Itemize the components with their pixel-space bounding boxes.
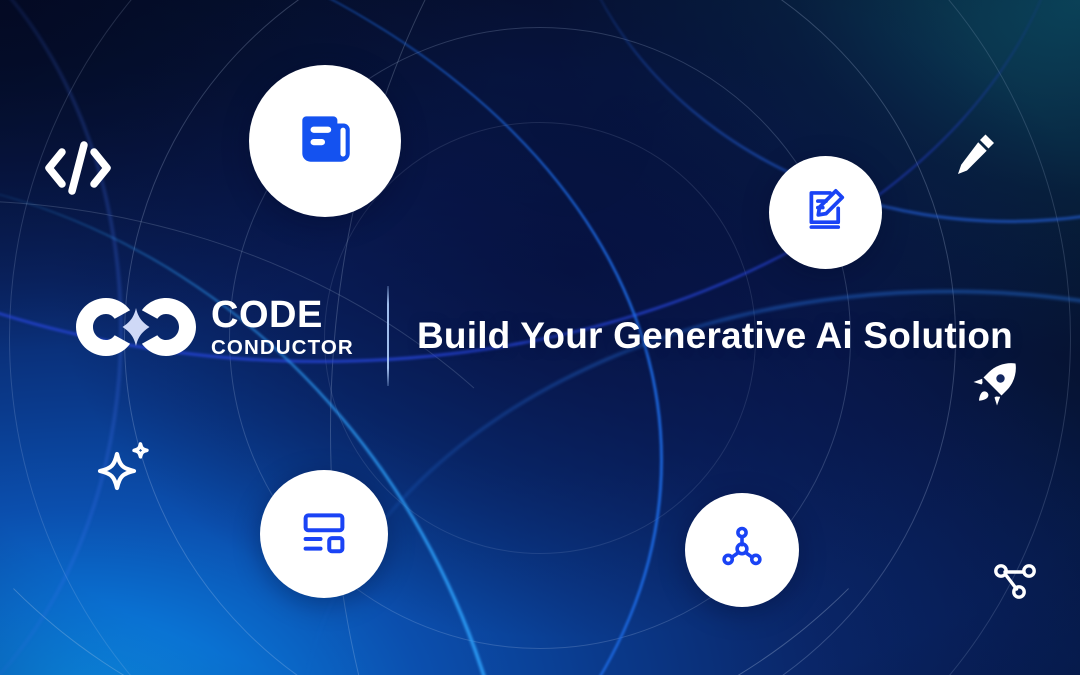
sparkle-star-icon [95,441,151,495]
feature-circle-edit[interactable] [769,156,882,269]
edit-document-icon [800,184,852,241]
layout-dashboard-icon [296,504,352,565]
feature-circle-network[interactable] [685,493,799,607]
code-brackets-icon [42,137,114,199]
promo-banner: CODE CONDUCTOR Build Your Generative Ai … [0,0,1080,675]
brand-wordmark: CODE CONDUCTOR [211,296,354,359]
brand-lockup[interactable]: CODE CONDUCTOR [75,296,354,359]
pencil-icon [955,132,997,178]
brand-name-top: CODE [211,296,354,334]
banner-content: CODE CONDUCTOR Build Your Generative Ai … [0,0,1080,675]
feature-circle-layout[interactable] [260,470,388,598]
share-nodes-icon [993,559,1039,601]
rocket-icon [968,359,1020,411]
infinity-sparkle-logo-icon [75,296,197,358]
feature-circle-news[interactable] [249,65,401,217]
brand-name-bottom: CONDUCTOR [211,338,354,359]
news-article-icon [292,106,358,177]
vertical-divider [387,286,389,386]
network-nodes-icon [716,522,768,579]
page-title: Build Your Generative Ai Solution [417,315,1013,357]
